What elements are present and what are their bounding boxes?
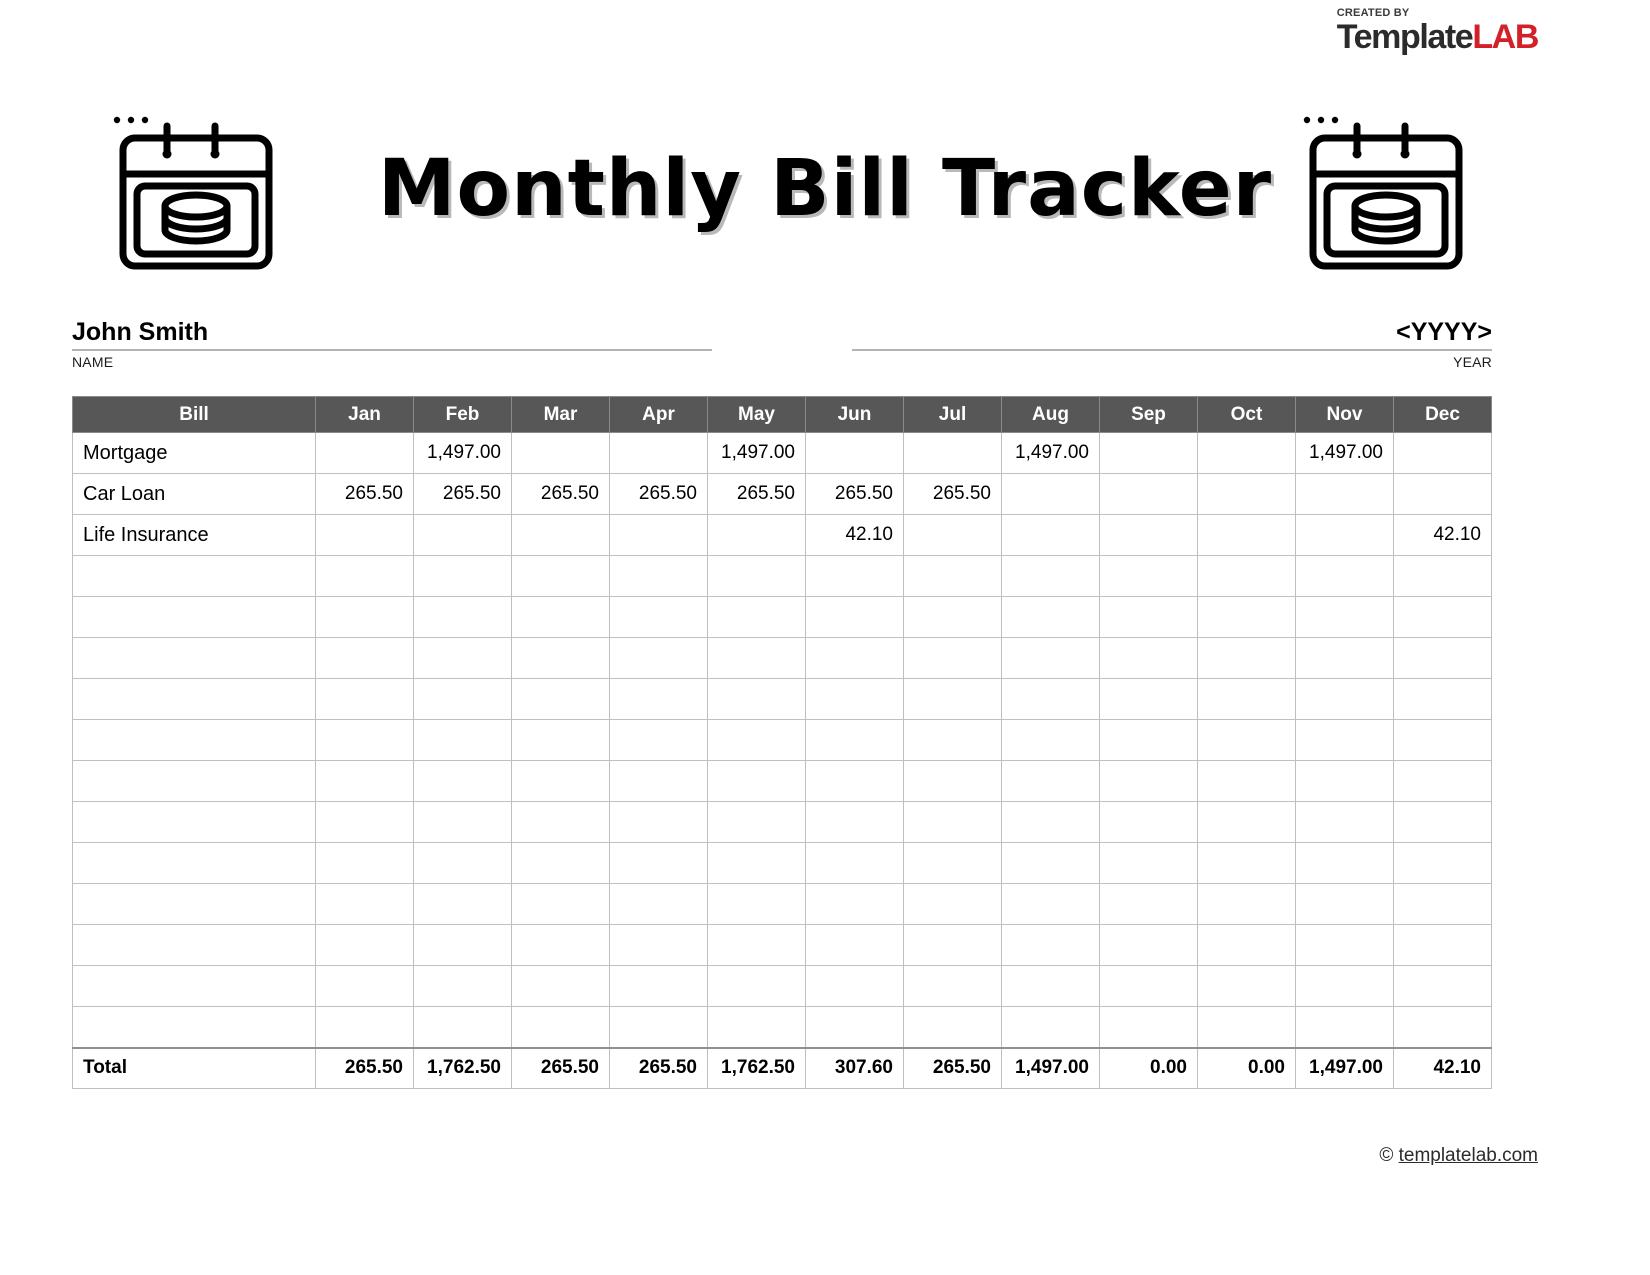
- bill-amount-cell[interactable]: [1198, 474, 1296, 515]
- bill-amount-cell[interactable]: [708, 802, 806, 843]
- bill-amount-cell[interactable]: 265.50: [904, 474, 1002, 515]
- column-header-apr[interactable]: Apr: [610, 397, 708, 433]
- bill-name-cell[interactable]: [73, 679, 316, 720]
- bill-amount-cell[interactable]: [1002, 515, 1100, 556]
- bill-amount-cell[interactable]: [414, 802, 512, 843]
- total-amount-cell: 1,497.00: [1296, 1048, 1394, 1089]
- page-header: Monthly Bill Tracker: [0, 100, 1650, 300]
- bill-amount-cell[interactable]: [1002, 761, 1100, 802]
- table-row: [73, 1007, 1492, 1048]
- bill-name-cell[interactable]: [73, 884, 316, 925]
- bill-amount-cell[interactable]: [1394, 638, 1492, 679]
- copyright-symbol: ©: [1379, 1145, 1393, 1166]
- column-header-feb[interactable]: Feb: [414, 397, 512, 433]
- brand-wordmark-template: Template: [1337, 18, 1473, 56]
- bill-amount-cell[interactable]: 42.10: [1394, 515, 1492, 556]
- bill-amount-cell[interactable]: [512, 1007, 610, 1048]
- bill-amount-cell[interactable]: [1100, 433, 1198, 474]
- bill-amount-cell[interactable]: [1002, 843, 1100, 884]
- table-row: [73, 720, 1492, 761]
- bill-amount-cell[interactable]: [1394, 556, 1492, 597]
- table-row: [73, 884, 1492, 925]
- bill-amount-cell[interactable]: [1100, 597, 1198, 638]
- bill-amount-cell[interactable]: [806, 925, 904, 966]
- name-value[interactable]: John Smith: [72, 318, 712, 349]
- bill-amount-cell[interactable]: [414, 925, 512, 966]
- table-row: Car Loan265.50265.50265.50265.50265.5026…: [73, 474, 1492, 515]
- bill-amount-cell[interactable]: [610, 433, 708, 474]
- brand-wordmark-lab: LAB: [1472, 18, 1538, 56]
- bill-amount-cell[interactable]: [708, 761, 806, 802]
- bill-tracker-sheet: BillJanFebMarAprMayJunJulAugSepOctNovDec…: [72, 396, 1492, 1089]
- bill-amount-cell[interactable]: [904, 720, 1002, 761]
- bill-amount-cell[interactable]: [1394, 597, 1492, 638]
- bill-amount-cell[interactable]: [610, 1007, 708, 1048]
- bill-amount-cell[interactable]: [512, 761, 610, 802]
- bill-amount-cell[interactable]: [610, 720, 708, 761]
- bill-amount-cell[interactable]: [708, 679, 806, 720]
- bill-name-cell[interactable]: [73, 597, 316, 638]
- bill-amount-cell[interactable]: [1394, 843, 1492, 884]
- bill-amount-cell[interactable]: 1,497.00: [708, 433, 806, 474]
- bill-amount-cell[interactable]: [1296, 515, 1394, 556]
- bill-amount-cell[interactable]: [414, 966, 512, 1007]
- bill-amount-cell[interactable]: [1100, 884, 1198, 925]
- bill-amount-cell[interactable]: [414, 515, 512, 556]
- bill-amount-cell[interactable]: [904, 1007, 1002, 1048]
- bill-amount-cell[interactable]: [1100, 638, 1198, 679]
- bill-amount-cell[interactable]: [1394, 1007, 1492, 1048]
- bill-amount-cell[interactable]: [1198, 556, 1296, 597]
- bill-amount-cell[interactable]: [1002, 966, 1100, 1007]
- bill-amount-cell[interactable]: 1,497.00: [1296, 433, 1394, 474]
- bill-amount-cell[interactable]: [904, 638, 1002, 679]
- table-row: [73, 761, 1492, 802]
- bill-amount-cell[interactable]: [1296, 597, 1394, 638]
- column-header-oct[interactable]: Oct: [1198, 397, 1296, 433]
- bill-amount-cell[interactable]: [610, 638, 708, 679]
- bill-amount-cell[interactable]: [610, 515, 708, 556]
- column-header-jun[interactable]: Jun: [806, 397, 904, 433]
- bill-amount-cell[interactable]: [1394, 925, 1492, 966]
- bill-amount-cell[interactable]: [1394, 474, 1492, 515]
- bill-amount-cell[interactable]: [806, 761, 904, 802]
- table-row: [73, 966, 1492, 1007]
- bill-amount-cell[interactable]: [1100, 720, 1198, 761]
- bill-amount-cell[interactable]: [610, 556, 708, 597]
- bill-amount-cell[interactable]: [316, 556, 414, 597]
- bill-amount-cell[interactable]: [512, 966, 610, 1007]
- bill-amount-cell[interactable]: [316, 843, 414, 884]
- bill-amount-cell[interactable]: [806, 597, 904, 638]
- bill-amount-cell[interactable]: [316, 679, 414, 720]
- bill-amount-cell[interactable]: [610, 966, 708, 1007]
- column-header-jan[interactable]: Jan: [316, 397, 414, 433]
- total-amount-cell: 42.10: [1394, 1048, 1492, 1089]
- bill-amount-cell[interactable]: [1198, 720, 1296, 761]
- bill-amount-cell[interactable]: [512, 638, 610, 679]
- bill-amount-cell[interactable]: [316, 638, 414, 679]
- bill-amount-cell[interactable]: [414, 720, 512, 761]
- bill-amount-cell[interactable]: 265.50: [414, 474, 512, 515]
- table-row: [73, 802, 1492, 843]
- table-row: [73, 597, 1492, 638]
- total-amount-cell: 0.00: [1100, 1048, 1198, 1089]
- bill-amount-cell[interactable]: [1394, 884, 1492, 925]
- bill-name-cell[interactable]: [73, 925, 316, 966]
- bill-amount-cell[interactable]: 265.50: [316, 474, 414, 515]
- bill-amount-cell[interactable]: [1198, 966, 1296, 1007]
- bill-amount-cell[interactable]: [708, 597, 806, 638]
- table-row: [73, 638, 1492, 679]
- bill-amount-cell[interactable]: [414, 843, 512, 884]
- column-header-dec[interactable]: Dec: [1394, 397, 1492, 433]
- bill-name-cell[interactable]: [73, 843, 316, 884]
- bill-amount-cell[interactable]: [1002, 1007, 1100, 1048]
- bill-amount-cell[interactable]: [1002, 720, 1100, 761]
- bill-name-cell[interactable]: [73, 1007, 316, 1048]
- bill-amount-cell[interactable]: [512, 720, 610, 761]
- total-amount-cell: 1,762.50: [414, 1048, 512, 1089]
- bill-amount-cell[interactable]: [316, 966, 414, 1007]
- bill-amount-cell[interactable]: [1198, 433, 1296, 474]
- bill-amount-cell[interactable]: [1100, 925, 1198, 966]
- bill-amount-cell[interactable]: [414, 1007, 512, 1048]
- bill-name-cell[interactable]: [73, 720, 316, 761]
- bill-amount-cell[interactable]: [512, 679, 610, 720]
- bill-amount-cell[interactable]: 265.50: [708, 474, 806, 515]
- bill-amount-cell[interactable]: [806, 556, 904, 597]
- bill-amount-cell[interactable]: [708, 515, 806, 556]
- bill-amount-cell[interactable]: [1296, 474, 1394, 515]
- bill-amount-cell[interactable]: [904, 966, 1002, 1007]
- bill-amount-cell[interactable]: [708, 638, 806, 679]
- bill-amount-cell[interactable]: [806, 1007, 904, 1048]
- bill-amount-cell[interactable]: [316, 720, 414, 761]
- table-row: [73, 925, 1492, 966]
- bill-amount-cell[interactable]: [414, 884, 512, 925]
- bill-amount-cell[interactable]: [316, 597, 414, 638]
- total-amount-cell: 265.50: [610, 1048, 708, 1089]
- bill-amount-cell[interactable]: [610, 802, 708, 843]
- bill-amount-cell[interactable]: [512, 802, 610, 843]
- bill-amount-cell[interactable]: [1394, 679, 1492, 720]
- bill-amount-cell[interactable]: [512, 884, 610, 925]
- bill-amount-cell[interactable]: [806, 843, 904, 884]
- bill-amount-cell[interactable]: [904, 679, 1002, 720]
- bill-amount-cell[interactable]: 1,497.00: [414, 433, 512, 474]
- bill-amount-cell[interactable]: [1100, 802, 1198, 843]
- bill-amount-cell[interactable]: [512, 515, 610, 556]
- total-row: Total265.501,762.50265.50265.501,762.503…: [73, 1048, 1492, 1089]
- bill-amount-cell[interactable]: [904, 843, 1002, 884]
- bill-amount-cell[interactable]: [316, 802, 414, 843]
- bill-amount-cell[interactable]: [1198, 761, 1296, 802]
- bill-amount-cell[interactable]: [1394, 761, 1492, 802]
- calendar-money-icon: [1295, 108, 1475, 278]
- bill-amount-cell[interactable]: [1100, 556, 1198, 597]
- total-amount-cell: 265.50: [904, 1048, 1002, 1089]
- bill-amount-cell[interactable]: [1198, 884, 1296, 925]
- bill-amount-cell[interactable]: [1296, 638, 1394, 679]
- total-label-cell: Total: [73, 1048, 316, 1089]
- bill-amount-cell[interactable]: [512, 597, 610, 638]
- bill-amount-cell[interactable]: [610, 597, 708, 638]
- table-row: Life Insurance42.1042.10: [73, 515, 1492, 556]
- bill-amount-cell[interactable]: [414, 761, 512, 802]
- bill-amount-cell[interactable]: [316, 1007, 414, 1048]
- bill-tracker-table: BillJanFebMarAprMayJunJulAugSepOctNovDec…: [72, 396, 1492, 1089]
- bill-amount-cell[interactable]: 42.10: [806, 515, 904, 556]
- bill-amount-cell[interactable]: [316, 761, 414, 802]
- bill-amount-cell[interactable]: 265.50: [610, 474, 708, 515]
- bill-amount-cell[interactable]: [1100, 679, 1198, 720]
- bill-amount-cell[interactable]: [1100, 515, 1198, 556]
- bill-amount-cell[interactable]: [316, 884, 414, 925]
- bill-amount-cell[interactable]: [1296, 884, 1394, 925]
- meta-row: John Smith NAME <YYYY> YEAR: [72, 318, 1492, 370]
- brand-wordmark: TemplateLAB: [1337, 20, 1538, 54]
- bill-amount-cell[interactable]: 1,497.00: [1002, 433, 1100, 474]
- column-header-aug[interactable]: Aug: [1002, 397, 1100, 433]
- bill-amount-cell[interactable]: [708, 925, 806, 966]
- bill-name-cell[interactable]: [73, 761, 316, 802]
- bill-amount-cell[interactable]: [1394, 802, 1492, 843]
- bill-amount-cell[interactable]: [1002, 638, 1100, 679]
- bill-amount-cell[interactable]: [1198, 638, 1296, 679]
- bill-amount-cell[interactable]: [610, 761, 708, 802]
- bill-name-cell[interactable]: Life Insurance: [73, 515, 316, 556]
- bill-amount-cell[interactable]: [1296, 761, 1394, 802]
- table-row: [73, 679, 1492, 720]
- bill-amount-cell[interactable]: [1296, 679, 1394, 720]
- bill-amount-cell[interactable]: [1100, 843, 1198, 884]
- bill-amount-cell[interactable]: [512, 843, 610, 884]
- year-label: YEAR: [852, 351, 1492, 370]
- bill-amount-cell[interactable]: [1002, 679, 1100, 720]
- bill-amount-cell[interactable]: [904, 597, 1002, 638]
- year-value[interactable]: <YYYY>: [852, 318, 1492, 349]
- bill-amount-cell[interactable]: [708, 556, 806, 597]
- bill-amount-cell[interactable]: [1394, 720, 1492, 761]
- bill-amount-cell[interactable]: [414, 679, 512, 720]
- templatelab-brand: CREATED BY TemplateLAB: [1337, 8, 1538, 54]
- total-amount-cell: 0.00: [1198, 1048, 1296, 1089]
- bill-amount-cell[interactable]: [1002, 474, 1100, 515]
- bill-amount-cell[interactable]: [512, 925, 610, 966]
- bill-amount-cell[interactable]: [1296, 720, 1394, 761]
- bill-amount-cell[interactable]: [806, 884, 904, 925]
- bill-amount-cell[interactable]: [316, 925, 414, 966]
- bill-amount-cell[interactable]: [1100, 966, 1198, 1007]
- bill-amount-cell[interactable]: [512, 556, 610, 597]
- column-header-may[interactable]: May: [708, 397, 806, 433]
- column-header-mar[interactable]: Mar: [512, 397, 610, 433]
- total-amount-cell: 1,497.00: [1002, 1048, 1100, 1089]
- bill-amount-cell[interactable]: [316, 433, 414, 474]
- bill-amount-cell[interactable]: [1296, 843, 1394, 884]
- bill-amount-cell[interactable]: [904, 433, 1002, 474]
- total-amount-cell: 1,762.50: [708, 1048, 806, 1089]
- bill-amount-cell[interactable]: [414, 597, 512, 638]
- bill-amount-cell[interactable]: [806, 966, 904, 1007]
- bill-name-cell[interactable]: [73, 802, 316, 843]
- bill-amount-cell[interactable]: [1002, 925, 1100, 966]
- column-header-bill[interactable]: Bill: [73, 397, 316, 433]
- templatelab-link[interactable]: templatelab.com: [1399, 1145, 1538, 1166]
- bill-amount-cell[interactable]: [1296, 802, 1394, 843]
- name-label: NAME: [72, 351, 712, 370]
- bill-amount-cell[interactable]: [904, 761, 1002, 802]
- bill-amount-cell[interactable]: [1198, 1007, 1296, 1048]
- bill-amount-cell[interactable]: [806, 720, 904, 761]
- bill-amount-cell[interactable]: [1198, 679, 1296, 720]
- bill-amount-cell[interactable]: [610, 679, 708, 720]
- bill-amount-cell[interactable]: [1100, 761, 1198, 802]
- bill-amount-cell[interactable]: [512, 433, 610, 474]
- column-header-sep[interactable]: Sep: [1100, 397, 1198, 433]
- bill-name-cell[interactable]: [73, 966, 316, 1007]
- bill-amount-cell[interactable]: [708, 720, 806, 761]
- bill-amount-cell[interactable]: [708, 884, 806, 925]
- bill-amount-cell[interactable]: [806, 679, 904, 720]
- bill-amount-cell[interactable]: [1002, 884, 1100, 925]
- bill-amount-cell[interactable]: [1100, 474, 1198, 515]
- bill-amount-cell[interactable]: [1198, 515, 1296, 556]
- bill-amount-cell[interactable]: [1198, 802, 1296, 843]
- bill-amount-cell[interactable]: [904, 925, 1002, 966]
- bill-name-cell[interactable]: Car Loan: [73, 474, 316, 515]
- total-amount-cell: 307.60: [806, 1048, 904, 1089]
- table-header-row: BillJanFebMarAprMayJunJulAugSepOctNovDec: [73, 397, 1492, 433]
- table-row: Mortgage1,497.001,497.001,497.001,497.00: [73, 433, 1492, 474]
- bill-amount-cell[interactable]: [1198, 925, 1296, 966]
- bill-amount-cell[interactable]: [414, 638, 512, 679]
- bill-name-cell[interactable]: [73, 556, 316, 597]
- bill-amount-cell[interactable]: [1002, 802, 1100, 843]
- total-amount-cell: 265.50: [316, 1048, 414, 1089]
- table-row: [73, 843, 1492, 884]
- bill-amount-cell[interactable]: [1394, 966, 1492, 1007]
- bill-amount-cell[interactable]: [610, 884, 708, 925]
- column-header-jul[interactable]: Jul: [904, 397, 1002, 433]
- bill-amount-cell[interactable]: [1394, 433, 1492, 474]
- bill-amount-cell[interactable]: [414, 556, 512, 597]
- name-field-group[interactable]: John Smith NAME: [72, 318, 712, 370]
- bill-amount-cell[interactable]: [610, 925, 708, 966]
- bill-amount-cell[interactable]: [806, 433, 904, 474]
- bill-amount-cell[interactable]: [708, 966, 806, 1007]
- bill-amount-cell[interactable]: [708, 1007, 806, 1048]
- total-amount-cell: 265.50: [512, 1048, 610, 1089]
- bill-amount-cell[interactable]: [316, 515, 414, 556]
- bill-amount-cell[interactable]: [806, 802, 904, 843]
- bill-amount-cell[interactable]: [610, 843, 708, 884]
- bill-name-cell[interactable]: [73, 638, 316, 679]
- bill-amount-cell[interactable]: [1100, 1007, 1198, 1048]
- bill-amount-cell[interactable]: [904, 802, 1002, 843]
- bill-amount-cell[interactable]: [1198, 597, 1296, 638]
- bill-amount-cell[interactable]: [904, 515, 1002, 556]
- bill-amount-cell[interactable]: [904, 884, 1002, 925]
- bill-amount-cell[interactable]: [1296, 1007, 1394, 1048]
- column-header-nov[interactable]: Nov: [1296, 397, 1394, 433]
- bill-name-cell[interactable]: Mortgage: [73, 433, 316, 474]
- bill-amount-cell[interactable]: [1002, 597, 1100, 638]
- footer-copyright: © templatelab.com: [1379, 1145, 1538, 1167]
- table-row: [73, 556, 1492, 597]
- bill-amount-cell[interactable]: [806, 638, 904, 679]
- bill-amount-cell[interactable]: [904, 556, 1002, 597]
- bill-amount-cell[interactable]: [1002, 556, 1100, 597]
- bill-amount-cell[interactable]: 265.50: [806, 474, 904, 515]
- bill-amount-cell[interactable]: [1296, 556, 1394, 597]
- bill-amount-cell[interactable]: [708, 843, 806, 884]
- year-field-group[interactable]: <YYYY> YEAR: [852, 318, 1492, 370]
- bill-amount-cell[interactable]: [1296, 925, 1394, 966]
- bill-amount-cell[interactable]: [1296, 966, 1394, 1007]
- bill-amount-cell[interactable]: 265.50: [512, 474, 610, 515]
- bill-amount-cell[interactable]: [1198, 843, 1296, 884]
